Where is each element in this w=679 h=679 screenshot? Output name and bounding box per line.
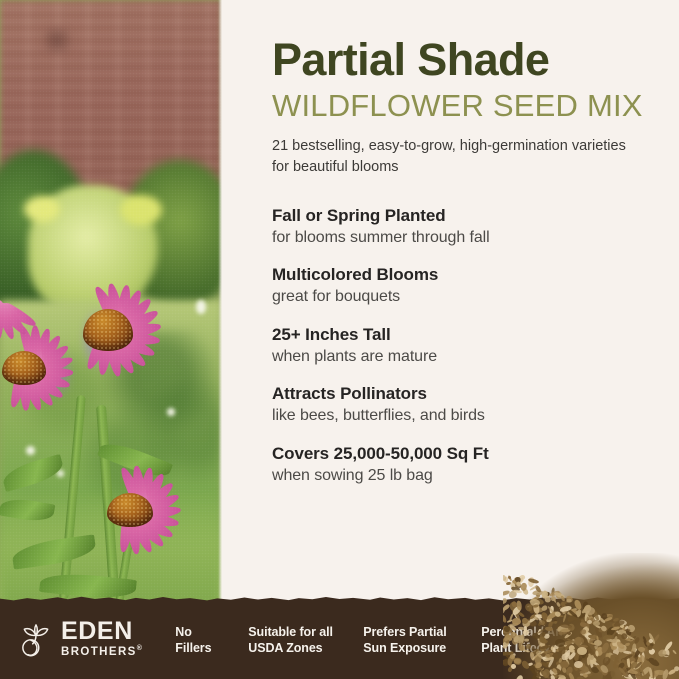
feature-title: Fall or Spring Planted — [272, 206, 672, 226]
feature-title: Covers 25,000-50,000 Sq Ft — [272, 444, 672, 464]
feature-title: 25+ Inches Tall — [272, 325, 672, 345]
feature-subtitle: when sowing 25 lb bag — [272, 467, 672, 485]
footer-column-line2: USDA Zones — [248, 641, 322, 655]
footer-column-fillers: No Fillers — [175, 624, 248, 657]
page-title: Partial Shade — [272, 0, 672, 83]
seed-particle — [527, 578, 539, 585]
cone-center — [107, 493, 153, 527]
seed-particle — [503, 574, 507, 581]
seed-particle — [513, 578, 524, 587]
cone-center — [2, 351, 46, 385]
intro-description: 21 bestselling, easy-to-grow, high-germi… — [272, 136, 632, 178]
seed-particle — [512, 579, 518, 585]
registered-mark: ® — [137, 645, 144, 652]
seed-particle — [534, 585, 542, 594]
footer-column-line1: No — [175, 625, 191, 639]
footer-column-lifecycle: Perennial / Annual Plant Lifecycle — [481, 624, 601, 657]
footer-column-line2: Sun Exposure — [363, 641, 446, 655]
seed-particle — [507, 589, 517, 599]
yellow-flowers-right — [120, 195, 162, 225]
seed-particle — [551, 588, 555, 596]
seed-particle — [557, 591, 562, 596]
sprout-icon — [18, 621, 54, 659]
seed-particle — [532, 590, 544, 596]
brand-tagline-text: BROTHERS — [61, 646, 137, 658]
seed-particle — [505, 581, 511, 585]
content-column: Partial Shade WILDFLOWER SEED MIX 21 bes… — [272, 0, 672, 503]
garden-photo — [0, 0, 222, 615]
page-subtitle: WILDFLOWER SEED MIX — [272, 89, 672, 122]
seed-particle — [545, 591, 549, 595]
white-bloom-dot — [26, 446, 35, 455]
seed-particle — [535, 592, 541, 598]
footer-bar: EDEN BROTHERS® No Fillers Suitable for a… — [0, 601, 679, 679]
seed-particle — [521, 583, 528, 592]
brand-tagline: BROTHERS® — [61, 644, 143, 660]
seed-particle — [554, 592, 565, 599]
seed-particle — [511, 581, 514, 589]
feature-item: Covers 25,000-50,000 Sq Ft when sowing 2… — [272, 444, 672, 485]
footer-column-line2: Plant Lifecycle — [481, 641, 567, 655]
seed-particle — [515, 577, 523, 588]
feature-item: Fall or Spring Planted for blooms summer… — [272, 206, 672, 247]
photo-right-fade — [218, 0, 222, 615]
photo-layers — [0, 0, 222, 615]
footer-column-line1: Perennial / Annual — [481, 625, 588, 639]
footer-column-line1: Prefers Partial — [363, 625, 446, 639]
seed-particle — [504, 576, 508, 583]
seed-particle — [517, 575, 526, 583]
footer-column-line2: Fillers — [175, 641, 211, 655]
seed-particle — [515, 577, 521, 583]
brand-logo: EDEN BROTHERS® — [18, 619, 143, 660]
white-bloom-dot — [167, 408, 175, 416]
seed-particle — [509, 581, 517, 593]
feature-list: Fall or Spring Planted for blooms summer… — [272, 206, 672, 485]
yellow-flowers-left — [24, 196, 60, 222]
brand-name: EDEN — [61, 619, 143, 644]
seed-particle — [555, 591, 561, 599]
seed-particle — [529, 585, 537, 591]
seed-particle — [508, 575, 512, 581]
seed-particle — [522, 587, 530, 596]
feature-title: Attracts Pollinators — [272, 384, 672, 404]
feature-item: Attracts Pollinators like bees, butterfl… — [272, 384, 672, 425]
feature-subtitle: when plants are mature — [272, 348, 672, 366]
seed-particle — [510, 586, 520, 592]
footer-content: EDEN BROTHERS® No Fillers Suitable for a… — [0, 601, 679, 679]
seed-particle — [508, 576, 511, 579]
footer-column-line1: Suitable for all — [248, 625, 333, 639]
feature-subtitle: like bees, butterflies, and birds — [272, 407, 672, 425]
feature-item: 25+ Inches Tall when plants are mature — [272, 325, 672, 366]
white-bloom-dot — [196, 300, 206, 314]
seed-particle — [516, 581, 522, 587]
feature-title: Multicolored Blooms — [272, 265, 672, 285]
brick-shadow — [40, 25, 74, 55]
seed-particle — [503, 589, 510, 596]
footer-column-sun-exposure: Prefers Partial Sun Exposure — [363, 624, 481, 657]
seed-particle — [513, 581, 522, 590]
footer-column-usda-zones: Suitable for all USDA Zones — [248, 624, 363, 657]
seed-particle — [513, 577, 520, 586]
seed-particle — [548, 590, 560, 597]
feature-subtitle: for blooms summer through fall — [272, 229, 672, 247]
feature-item: Multicolored Blooms great for bouquets — [272, 265, 672, 306]
seed-particle — [527, 576, 534, 587]
feature-subtitle: great for bouquets — [272, 288, 672, 306]
brand-wordmark: EDEN BROTHERS® — [61, 619, 143, 660]
product-poster: Partial Shade WILDFLOWER SEED MIX 21 bes… — [0, 0, 679, 679]
footer-feature-columns: No Fillers Suitable for all USDA Zones P… — [175, 624, 601, 657]
seed-particle — [513, 589, 522, 593]
